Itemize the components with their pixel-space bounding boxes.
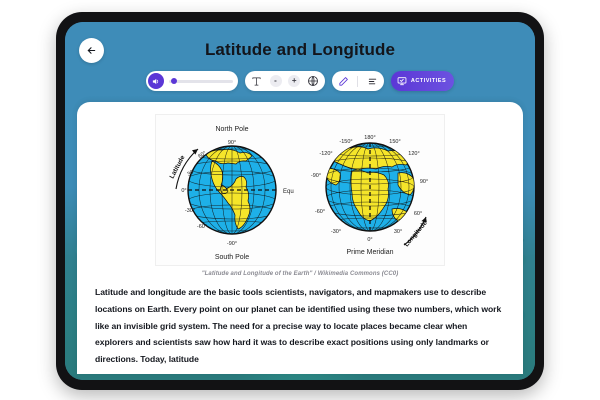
figure-caption: "Latitude and Longitude of the Earth" / … [95,271,505,277]
activities-button[interactable]: ACTIVITIES [391,71,454,91]
globe-translate-icon[interactable] [307,75,320,88]
tablet-device-frame: Latitude and Longitude [56,12,544,390]
svg-text:-150°: -150° [339,139,352,145]
lesson-paragraph: Latitude and longitude are the basic too… [95,284,505,368]
svg-text:Prime Meridian: Prime Meridian [346,249,393,256]
activities-label: ACTIVITIES [411,78,446,84]
svg-text:Longitude: Longitude [403,219,429,248]
svg-text:90°: 90° [228,140,236,146]
svg-text:-30°: -30° [331,229,341,235]
svg-text:-120°: -120° [319,151,332,157]
svg-text:60°: 60° [414,211,422,217]
monitor-activities-icon [397,76,407,86]
audio-progress-slider[interactable] [169,80,233,83]
list-lines-icon[interactable] [366,75,379,88]
latitude-globe: North Pole South Pole [162,117,294,263]
decrease-font-button[interactable]: - [270,75,282,87]
text-tools-group: - + [245,71,325,91]
increase-font-button[interactable]: + [288,75,300,87]
svg-text:0°: 0° [367,237,372,243]
tablet-screen: Latitude and Longitude [65,22,535,380]
speaker-volume-icon[interactable] [148,73,164,89]
svg-text:120°: 120° [408,151,419,157]
longitude-globe: 180° -150° 150° -120° 120° -90° 90° -60°… [306,117,438,263]
svg-text:90°: 90° [420,179,428,185]
svg-text:-60°: -60° [197,224,207,230]
lesson-content-card[interactable]: North Pole South Pole [77,102,523,374]
reader-toolbar: - + [65,71,535,91]
svg-text:-60°: -60° [315,209,325,215]
screenshot-stage: Latitude and Longitude [0,0,600,400]
toolbar-divider [357,76,358,87]
svg-text:North Pole: North Pole [215,126,248,133]
annotation-tools-group [332,71,384,91]
svg-text:-30°: -30° [185,208,195,214]
svg-text:-90°: -90° [311,173,321,179]
text-format-icon[interactable] [250,75,263,88]
svg-text:150°: 150° [389,139,400,145]
svg-text:30°: 30° [394,229,402,235]
audio-player-group [146,71,238,91]
svg-text:180°: 180° [364,135,375,141]
app-header: Latitude and Longitude [65,22,535,108]
page-title: Latitude and Longitude [65,40,535,60]
svg-text:-90°: -90° [227,241,237,247]
svg-text:South Pole: South Pole [215,254,249,261]
svg-text:Equator: Equator [283,189,294,195]
svg-text:0°: 0° [181,188,186,194]
audio-slider-handle[interactable] [171,78,177,84]
highlighter-pen-icon[interactable] [337,75,350,88]
globe-diagrams: North Pole South Pole [156,115,444,265]
figure-container: North Pole South Pole [155,114,445,266]
